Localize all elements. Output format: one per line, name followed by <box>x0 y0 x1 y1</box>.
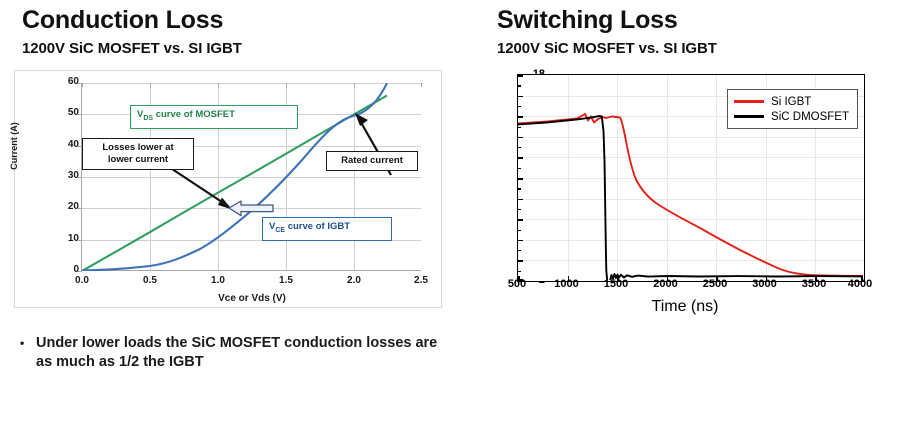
bullet-dot-icon: • <box>20 334 36 353</box>
right-subtitle: 1200V SiC MOSFET vs. SI IGBT <box>497 40 717 57</box>
losses-lower-line1: Losses lower at <box>89 142 187 154</box>
legend-entry-si-igbt: Si IGBT <box>734 94 849 109</box>
rated-current-text: Rated current <box>341 155 403 166</box>
left-x-tick-3: 1.5 <box>266 275 306 286</box>
right-x-tick-3000: 3000 <box>742 278 788 290</box>
left-x-tick-4: 2.0 <box>334 275 374 286</box>
mosfet-curve-annotation: VDS curve of MOSFET <box>130 105 298 129</box>
right-x-tick-4000: 4000 <box>837 278 883 290</box>
right-x-axis-label: Time (ns) <box>505 298 865 316</box>
legend-swatch-sic-dmosfet <box>734 115 764 118</box>
left-y-tick-10: 10 <box>45 233 79 244</box>
right-column: Switching Loss 1200V SiC MOSFET vs. SI I… <box>455 0 900 421</box>
rated-current-annotation: Rated current <box>326 151 418 171</box>
sic-dmosfet-trace <box>518 116 863 280</box>
left-title: Conduction Loss <box>22 6 242 35</box>
left-y-tick-20: 20 <box>45 201 79 212</box>
legend-label-sic-dmosfet: SiC DMOSFET <box>771 111 849 123</box>
right-title: Switching Loss <box>497 6 717 35</box>
legend-swatch-si-igbt <box>734 100 764 102</box>
left-bullet-list: • Under lower loads the SiC MOSFET condu… <box>20 334 445 374</box>
legend-entry-sic-dmosfet: SiC DMOSFET <box>734 109 849 124</box>
left-y-tick-30: 30 <box>45 170 79 181</box>
slide-root: Conduction Loss 1200V SiC MOSFET vs. SI … <box>0 0 900 421</box>
right-chart-legend: Si IGBT SiC DMOSFET <box>727 89 858 129</box>
right-x-tick-3500: 3500 <box>791 278 837 290</box>
losses-lower-line2: lower current <box>89 154 187 166</box>
left-x-tick-0: 0.0 <box>62 275 102 286</box>
igbt-curve-text: curve of IGBT <box>288 221 350 232</box>
left-y-tick-00: 0 <box>45 264 79 275</box>
left-subtitle: 1200V SiC MOSFET vs. SI IGBT <box>22 40 242 57</box>
left-x-tick-5: 2.5 <box>401 275 441 286</box>
igbt-curve-annotation: VCE curve of IGBT <box>262 217 392 241</box>
left-column: Conduction Loss 1200V SiC MOSFET vs. SI … <box>0 0 455 421</box>
right-header: Switching Loss 1200V SiC MOSFET vs. SI I… <box>497 6 717 57</box>
list-item: • Under lower loads the SiC MOSFET condu… <box>20 334 445 372</box>
legend-label-si-igbt: Si IGBT <box>771 96 811 108</box>
left-bullet-text-0: Under lower loads the SiC MOSFET conduct… <box>36 334 445 372</box>
right-x-tick-500: 500 <box>494 278 540 290</box>
right-x-tick-2000: 2000 <box>643 278 689 290</box>
igbt-curve-subscript: CE <box>275 227 285 234</box>
left-y-tick-60: 60 <box>45 76 79 87</box>
left-y-tick-50: 50 <box>45 107 79 118</box>
left-header: Conduction Loss 1200V SiC MOSFET vs. SI … <box>22 6 242 57</box>
lower-current-block-arrow-icon <box>229 201 273 216</box>
conduction-loss-chart: Current (A) 0 <box>14 70 442 308</box>
right-x-tick-1500: 1500 <box>593 278 639 290</box>
left-x-tick-1: 0.5 <box>130 275 170 286</box>
left-y-axis-label: Current (A) <box>9 103 19 189</box>
right-x-tick-1000: 1000 <box>544 278 590 290</box>
mosfet-curve-subscript: DS <box>143 115 153 122</box>
switching-loss-chart: 18 16 14 12 10 8 6 4 2 0 -2 <box>465 66 897 312</box>
left-x-tick-2: 1.0 <box>198 275 238 286</box>
mosfet-curve-text: curve of MOSFET <box>156 109 235 120</box>
si-igbt-trace <box>518 114 863 276</box>
right-plot-area: Si IGBT SiC DMOSFET <box>517 74 865 282</box>
right-x-tick-2500: 2500 <box>692 278 738 290</box>
left-x-axis-label: Vce or Vds (V) <box>82 293 422 304</box>
left-plot-area: 60 50 40 30 20 10 0 <box>81 83 421 271</box>
left-y-tick-40: 40 <box>45 139 79 150</box>
losses-lower-annotation: Losses lower at lower current <box>82 138 194 170</box>
